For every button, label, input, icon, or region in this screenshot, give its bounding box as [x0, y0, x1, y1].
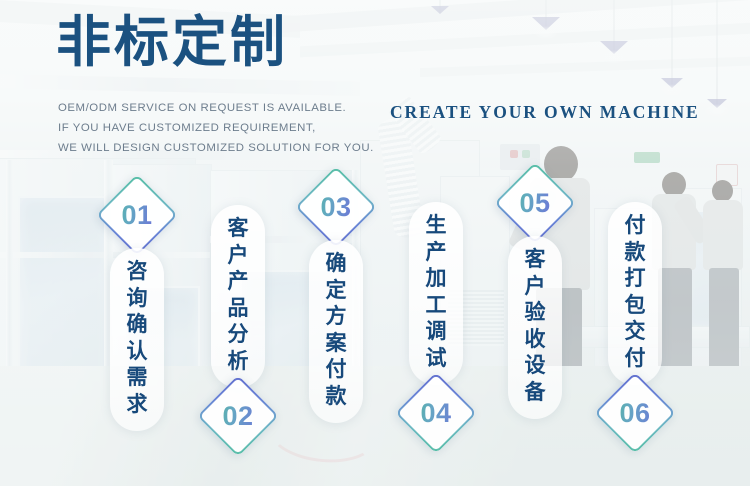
- step-char: 加: [426, 266, 447, 293]
- step-char: 试: [426, 346, 447, 373]
- step-char: 求: [127, 392, 148, 419]
- step-char: 设: [525, 353, 546, 380]
- step-number-03: 03: [307, 178, 365, 236]
- step-badge-03: 03: [295, 166, 377, 248]
- step-char: 分: [228, 322, 249, 349]
- step-char: 案: [326, 331, 347, 358]
- step-number-05: 05: [506, 174, 564, 232]
- banner-stage: 非标定制 OEM/ODM SERVICE ON REQUEST IS AVAIL…: [0, 0, 750, 486]
- step-label-pill-04: 生 产 加 工 调 试: [409, 202, 463, 385]
- step-char: 户: [228, 243, 249, 270]
- step-char: 产: [426, 240, 447, 267]
- step-char: 客: [525, 247, 546, 274]
- step-char: 包: [625, 293, 646, 320]
- step-label-pill-05: 客 户 验 收 设 备: [508, 236, 562, 419]
- step-char: 咨: [127, 259, 148, 286]
- step-char: 询: [127, 286, 148, 313]
- step-char: 付: [326, 357, 347, 384]
- step-badge-02: 02: [197, 375, 279, 457]
- step-number-01: 01: [108, 186, 166, 244]
- step-number-02: 02: [209, 387, 267, 445]
- step-char: 打: [625, 266, 646, 293]
- step-char: 交: [625, 319, 646, 346]
- step-label-pill-02: 客 户 产 品 分 析: [211, 205, 265, 388]
- step-label-pill-01: 咨 询 确 认 需 求: [110, 248, 164, 431]
- step-badge-05: 05: [494, 162, 576, 244]
- step-number-06: 06: [606, 384, 664, 442]
- process-steps: 01 咨 询 确 认 需 求 客 户 产 品 分 析 02: [0, 0, 750, 486]
- step-char: 收: [525, 327, 546, 354]
- step-label-pill-03: 确 定 方 案 付 款: [309, 240, 363, 423]
- step-char: 验: [525, 300, 546, 327]
- step-badge-06: 06: [594, 372, 676, 454]
- step-badge-04: 04: [395, 372, 477, 454]
- step-number-04: 04: [407, 384, 465, 442]
- step-char: 户: [525, 274, 546, 301]
- step-char: 工: [426, 293, 447, 320]
- step-char: 生: [426, 213, 447, 240]
- step-label-pill-06: 付 款 打 包 交 付: [608, 202, 662, 385]
- step-char: 方: [326, 304, 347, 331]
- step-char: 款: [326, 384, 347, 411]
- step-char: 款: [625, 240, 646, 267]
- step-char: 备: [525, 380, 546, 407]
- step-char: 付: [625, 213, 646, 240]
- step-char: 认: [127, 339, 148, 366]
- step-badge-01: 01: [96, 174, 178, 256]
- step-char: 需: [127, 365, 148, 392]
- step-char: 析: [228, 349, 249, 376]
- step-char: 品: [228, 296, 249, 323]
- step-char: 付: [625, 346, 646, 373]
- step-char: 调: [426, 319, 447, 346]
- step-char: 客: [228, 216, 249, 243]
- step-char: 产: [228, 269, 249, 296]
- step-char: 确: [326, 251, 347, 278]
- step-char: 确: [127, 312, 148, 339]
- step-char: 定: [326, 278, 347, 305]
